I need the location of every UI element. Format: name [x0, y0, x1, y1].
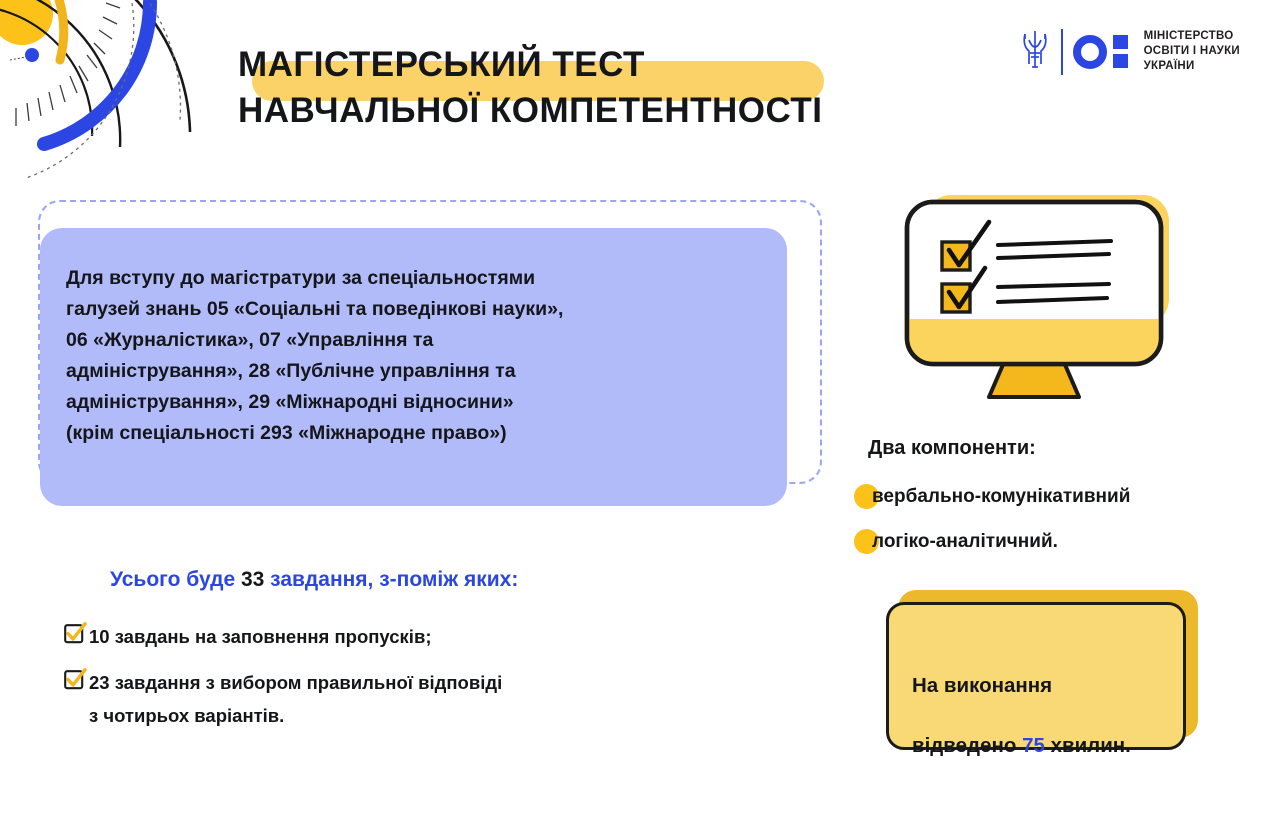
tasks-heading-prefix: Усього буде: [110, 568, 241, 591]
monitor-checklist-icon: [893, 192, 1183, 412]
duration-line-1: На виконання: [912, 671, 1182, 701]
info-box-text: Для вступу до магістратури за спеціально…: [66, 263, 766, 449]
components-heading: Два компоненти:: [868, 437, 1036, 460]
tasks-heading: Усього буде 33 завдання, з-поміж яких:: [110, 568, 518, 592]
ministry-logo-text: МІНІСТЕРСТВО ОСВІТИ І НАУКИ УКРАЇНИ: [1144, 29, 1240, 74]
duration-minutes: 75: [1022, 734, 1045, 757]
tasks-heading-suffix: завдання, з-поміж яких:: [264, 568, 518, 591]
list-item: 10 завдань на заповнення пропусків;: [63, 620, 763, 653]
ministry-logo-text-line-3: УКРАЇНИ: [1144, 59, 1240, 74]
tasks-list: 10 завдань на заповнення пропусків; 23 з…: [63, 620, 763, 745]
ukraine-trident-icon: [1019, 26, 1051, 77]
ministry-logo: МІНІСТЕРСТВО ОСВІТИ І НАУКИ УКРАЇНИ: [1019, 26, 1240, 77]
yellow-circle: [0, 0, 53, 45]
duration-card-text: На виконання відведено 75 хвилин.: [912, 641, 1182, 791]
concentric-arcs-decoration: [0, 0, 260, 200]
duration-line-2: відведено 75 хвилин.: [912, 731, 1182, 761]
page-title-line-1: МАГІСТЕРСЬКИЙ ТЕСТ: [238, 42, 878, 88]
tasks-total-number: 33: [241, 568, 264, 591]
blue-dot: [25, 48, 39, 62]
page-title-line-2: НАВЧАЛЬНОЇ КОМПЕТЕНТНОСТІ: [238, 88, 878, 134]
list-item-label: 10 завдань на заповнення пропусків;: [89, 620, 432, 653]
logo-divider: [1061, 29, 1063, 75]
logo-square-bottom: [1113, 54, 1128, 68]
page-title: МАГІСТЕРСЬКИЙ ТЕСТ НАВЧАЛЬНОЇ КОМПЕТЕНТН…: [238, 42, 878, 134]
concentric-arcs-svg: [0, 0, 260, 200]
dot-stem: [10, 57, 26, 60]
checkbox-checked-icon: [63, 667, 89, 696]
list-item: 23 завдання з вибором правильної відпові…: [63, 666, 763, 732]
duration-suffix: хвилин.: [1045, 734, 1131, 757]
logo-square-top: [1113, 35, 1128, 49]
list-item-label: вербально-комунікативний: [872, 486, 1130, 507]
monitor-base-band: [907, 319, 1161, 364]
mon-ring-squares-icon: [1073, 35, 1128, 69]
list-item: логіко-аналітичний.: [854, 527, 1040, 557]
logo-squares: [1113, 35, 1128, 68]
list-item-label: логіко-аналітичний.: [872, 531, 1058, 552]
ministry-logo-text-line-1: МІНІСТЕРСТВО: [1144, 29, 1240, 44]
ministry-logo-text-line-2: ОСВІТИ І НАУКИ: [1144, 44, 1240, 59]
list-item: вербально-комунікативний: [854, 482, 1112, 512]
logo-ring-o: [1073, 35, 1107, 69]
list-item-label: 23 завдання з вибором правильної відпові…: [89, 666, 502, 732]
duration-prefix: відведено: [912, 734, 1022, 757]
checkbox-checked-icon: [63, 621, 89, 650]
